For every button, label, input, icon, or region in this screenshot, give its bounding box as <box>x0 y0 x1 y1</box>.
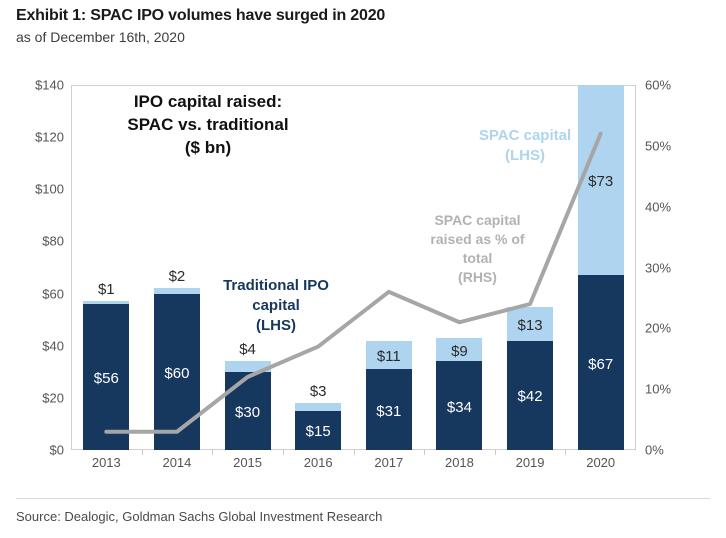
x-tick-mark <box>212 450 213 455</box>
bar-label-traditional: $56 <box>83 370 129 387</box>
legend-spac-percent-total: SPAC capital raised as % of total (RHS) <box>400 211 555 287</box>
x-tick-label: 2014 <box>142 455 212 470</box>
y-tick-left: $0 <box>6 443 64 458</box>
y-tick-right: 30% <box>645 260 715 275</box>
page-subtitle: as of December 16th, 2020 <box>16 28 716 47</box>
bar-label-spac: $13 <box>507 317 553 334</box>
bar-segment-spac[interactable] <box>225 361 271 371</box>
bar-segment-spac[interactable] <box>154 288 200 293</box>
y-tick-right: 40% <box>645 199 715 214</box>
bar-label-spac: $73 <box>578 173 624 190</box>
chart-caption-box: IPO capital raised: SPAC vs. traditional… <box>88 90 328 159</box>
bar-label-spac: $1 <box>83 281 129 298</box>
header: Exhibit 1: SPAC IPO volumes have surged … <box>16 6 716 47</box>
bar-label-traditional: $60 <box>154 365 200 382</box>
page-title: Exhibit 1: SPAC IPO volumes have surged … <box>16 6 716 26</box>
bar-label-traditional: $31 <box>366 403 412 420</box>
x-tick-label: 2015 <box>213 455 283 470</box>
bar-label-traditional: $42 <box>507 388 553 405</box>
x-tick-label: 2017 <box>354 455 424 470</box>
y-tick-right: 0% <box>645 443 715 458</box>
bar-stack[interactable]: $56$1 <box>83 301 129 450</box>
chart-page: Exhibit 1: SPAC IPO volumes have surged … <box>0 0 726 538</box>
bar-label-spac: $11 <box>366 348 412 365</box>
bar-stack[interactable]: $60$2 <box>154 288 200 450</box>
bar-label-spac: $4 <box>225 341 271 358</box>
y-tick-left: $140 <box>6 78 64 93</box>
bar-stack[interactable]: $30$4 <box>225 361 271 450</box>
bar-stack[interactable]: $15$3 <box>295 403 341 450</box>
x-tick-label: 2018 <box>424 455 494 470</box>
x-tick-mark <box>424 450 425 455</box>
y-tick-left: $80 <box>6 234 64 249</box>
bar-stack[interactable]: $31$11 <box>366 341 412 451</box>
bar-label-traditional: $67 <box>578 356 624 373</box>
bar-label-traditional: $34 <box>436 399 482 416</box>
x-tick-mark <box>495 450 496 455</box>
bar-label-traditional: $15 <box>295 423 341 440</box>
x-tick-label: 2020 <box>566 455 636 470</box>
x-tick-label: 2019 <box>495 455 565 470</box>
bar-segment-spac[interactable] <box>295 403 341 411</box>
legend-spac-capital: SPAC capital (LHS) <box>440 126 610 166</box>
y-tick-left: $20 <box>6 390 64 405</box>
x-tick-mark <box>142 450 143 455</box>
y-tick-left: $100 <box>6 182 64 197</box>
legend-traditional-capital: Traditional IPO capital (LHS) <box>196 276 356 336</box>
bar-label-spac: $2 <box>154 268 200 285</box>
x-tick-label: 2016 <box>283 455 353 470</box>
bar-segment-spac[interactable] <box>83 301 129 304</box>
x-tick-mark <box>354 450 355 455</box>
y-tick-left: $40 <box>6 338 64 353</box>
y-tick-right: 20% <box>645 321 715 336</box>
bar-stack[interactable]: $42$13 <box>507 307 553 450</box>
x-tick-mark <box>565 450 566 455</box>
y-tick-right: 10% <box>645 382 715 397</box>
y-tick-left: $120 <box>6 130 64 145</box>
source-note: Source: Dealogic, Goldman Sachs Global I… <box>16 509 382 524</box>
y-tick-left: $60 <box>6 286 64 301</box>
y-tick-right: 60% <box>645 78 715 93</box>
footer-divider <box>16 498 710 499</box>
x-tick-label: 2013 <box>71 455 141 470</box>
bar-stack[interactable]: $34$9 <box>436 338 482 450</box>
bar-label-traditional: $30 <box>225 404 271 421</box>
y-tick-right: 50% <box>645 138 715 153</box>
x-tick-mark <box>283 450 284 455</box>
bar-label-spac: $3 <box>295 383 341 400</box>
bar-label-spac: $9 <box>436 343 482 360</box>
